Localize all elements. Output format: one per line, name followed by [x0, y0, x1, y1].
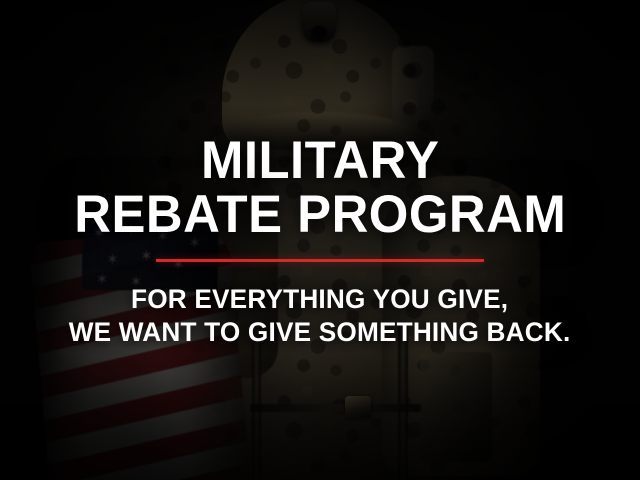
military-rebate-banner: ✶ ✶ ✶ ✶ ✶ ✶ ✶ ✶ ✶ MILITARY REBATE PROGRA… — [0, 0, 640, 480]
headline-line-2: REBATE PROGRAM — [74, 187, 566, 243]
subheadline: FOR EVERYTHING YOU GIVE, WE WANT TO GIVE… — [61, 283, 578, 349]
headline-line-1: MILITARY — [74, 134, 566, 187]
subheadline-line-1: FOR EVERYTHING YOU GIVE, — [69, 283, 571, 316]
page-title: MILITARY REBATE PROGRAM — [64, 0, 576, 243]
subheadline-line-2: WE WANT TO GIVE SOMETHING BACK. — [69, 316, 571, 349]
red-divider — [156, 259, 484, 262]
banner-content: MILITARY REBATE PROGRAM FOR EVERYTHING Y… — [0, 0, 640, 480]
